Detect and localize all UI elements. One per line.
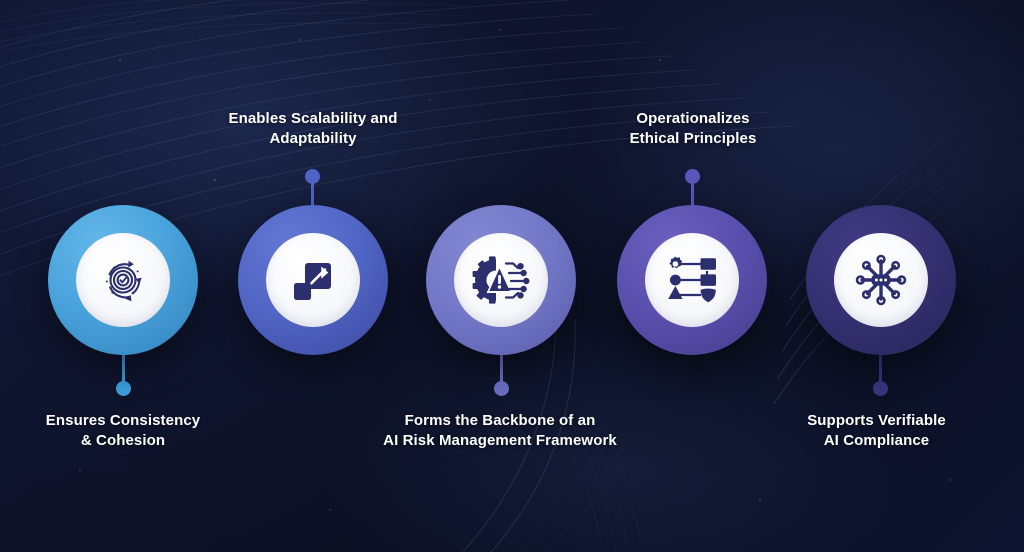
caption-ethical-principles: Operationalizes Ethical Principles [585,109,801,149]
icon-plate-consistency [76,233,170,327]
icon-plate-verifiable-compliance [834,233,928,327]
node-ethical-principles[interactable] [617,205,767,355]
connector-dot-verifiable-compliance [873,381,888,396]
icon-plate-scalability [266,233,360,327]
icon-plate-ethical-principles [645,233,739,327]
connector-dot-consistency [116,381,131,396]
caption-consistency: Ensures Consistency & Cohesion [13,411,233,451]
workflow-nodes-icon [665,255,719,305]
node-consistency[interactable] [48,205,198,355]
node-risk-framework[interactable] [426,205,576,355]
refresh-cycle-check-icon [95,252,151,308]
icon-plate-risk-framework [454,233,548,327]
caption-verifiable-compliance: Supports Verifiable AI Compliance [770,411,983,451]
node-verifiable-compliance[interactable] [806,205,956,355]
ai-risk-gear-warning-icon [472,254,530,306]
connector-dot-risk-framework [494,381,509,396]
caption-risk-framework: Forms the Backbone of an AI Risk Managem… [355,411,645,451]
node-scalability[interactable] [238,205,388,355]
expand-resize-icon [288,255,338,305]
infographic-canvas: Ensures Consistency & Cohesion Enables S… [0,0,1024,552]
connector-dot-ethical-principles [685,169,700,184]
connector-dot-scalability [305,169,320,184]
caption-scalability: Enables Scalability and Adaptability [203,109,423,149]
network-hub-chip-icon [853,252,909,308]
